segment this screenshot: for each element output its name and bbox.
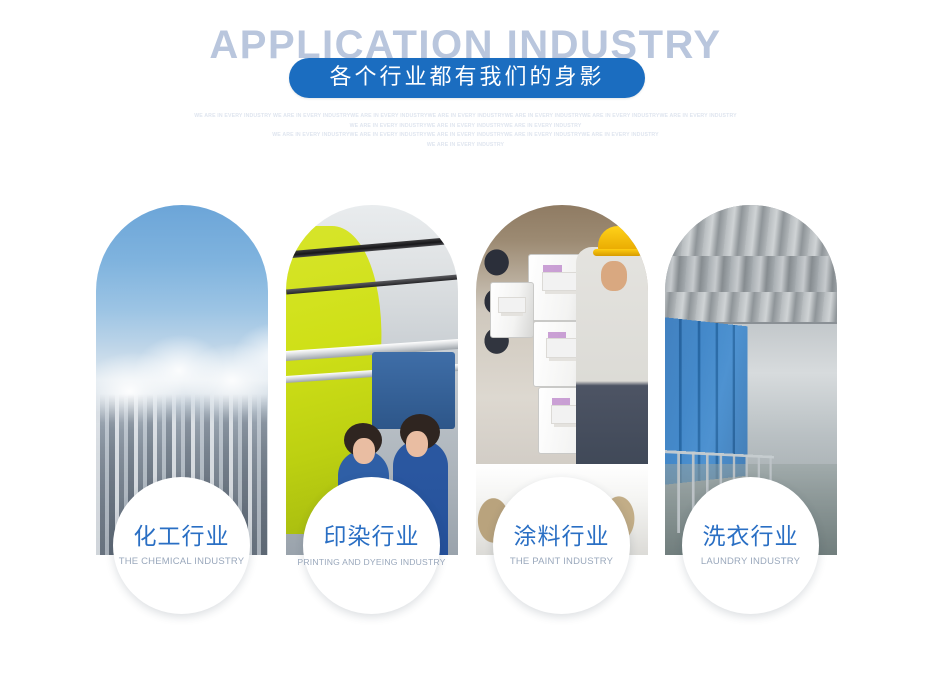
industry-label-laundry[interactable]: 洗衣行业 LAUNDRY INDUSTRY	[682, 477, 819, 614]
industry-label-cn: 洗衣行业	[703, 523, 799, 551]
industry-label-cn: 涂料行业	[514, 523, 610, 551]
ceiling-beam	[286, 275, 458, 295]
worker-face	[353, 438, 375, 464]
industry-label-chemical[interactable]: 化工行业 THE CHEMICAL INDUSTRY	[113, 477, 250, 614]
industry-label-paint[interactable]: 涂料行业 THE PAINT INDUSTRY	[493, 477, 630, 614]
industry-label-printing-dyeing[interactable]: 印染行业 PRINTING AND DYEING INDUSTRY	[303, 477, 440, 614]
hard-hat-icon	[598, 226, 638, 252]
worker-face	[601, 261, 627, 291]
industry-label-en: THE CHEMICAL INDUSTRY	[119, 556, 245, 568]
industry-label-en: LAUNDRY INDUSTRY	[701, 556, 800, 568]
industry-label-cn: 印染行业	[324, 523, 420, 551]
paint-pail	[490, 282, 535, 338]
industry-label-en: PRINTING AND DYEING INDUSTRY	[297, 556, 445, 568]
ceiling-duct	[665, 205, 837, 324]
industry-label-en: THE PAINT INDUSTRY	[510, 556, 613, 568]
ceiling-beam	[286, 236, 458, 258]
worker-face	[406, 431, 428, 457]
industry-card-grid: 化工行业 THE CHEMICAL INDUSTRY 印染行业 PRINTING…	[0, 0, 931, 676]
industry-label-cn: 化工行业	[134, 523, 230, 551]
